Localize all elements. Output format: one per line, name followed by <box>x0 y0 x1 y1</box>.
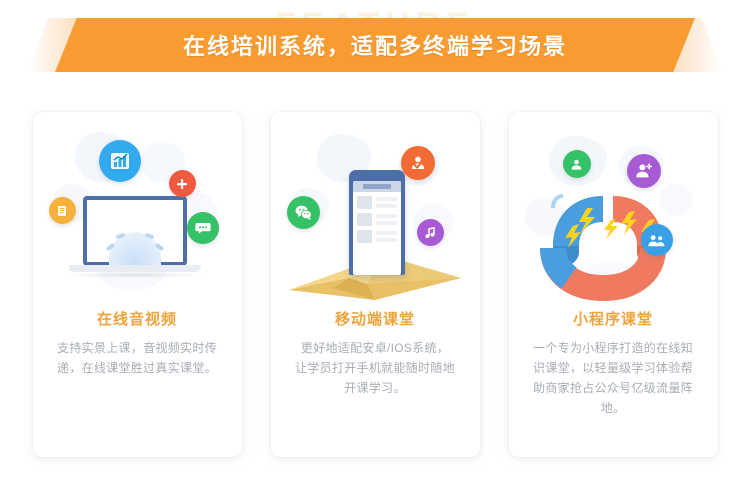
gear-graphic-icon <box>109 232 161 266</box>
page-banner: FEATURE 在线培训系统，适配多终端学习场景 <box>0 18 750 72</box>
laptop-illustration <box>45 126 230 306</box>
card-title: 在线音视频 <box>97 308 177 329</box>
user-check-icon <box>401 146 435 180</box>
laptop-base <box>69 265 201 272</box>
card-description: 一个专为小程序打造的在线知识课堂，以轻量级学习体验帮助商家抢占公众号亿级流量阵地… <box>533 338 693 418</box>
banner-title: 在线培训系统，适配多终端学习场景 <box>0 18 750 72</box>
wechat-icon <box>287 196 320 229</box>
user-download-icon <box>563 150 591 178</box>
card-title: 移动端课堂 <box>335 308 415 329</box>
music-note-icon <box>417 219 444 246</box>
feature-card-miniprogram-class[interactable]: 小程序课堂 一个专为小程序打造的在线知识课堂，以轻量级学习体验帮助商家抢占公众号… <box>509 112 718 457</box>
feature-card-online-av[interactable]: 在线音视频 支持实景上课，音视频实时传递，在线课堂胜过真实课堂。 <box>33 112 242 457</box>
phone-paper-plane-illustration <box>283 126 468 306</box>
document-icon <box>49 197 76 224</box>
plus-icon <box>169 170 196 197</box>
smartphone-icon <box>349 170 405 275</box>
chat-bubble-icon <box>187 212 219 244</box>
feature-card-mobile-class[interactable]: 移动端课堂 更好地适配安卓/IOS系统，让学员打开手机就能随时随地开课学习。 <box>271 112 480 457</box>
user-add-icon <box>627 154 661 188</box>
card-description: 更好地适配安卓/IOS系统，让学员打开手机就能随时随地开课学习。 <box>295 338 455 398</box>
card-title: 小程序课堂 <box>573 308 653 329</box>
feature-card-list: 在线音视频 支持实景上课，音视频实时传递，在线课堂胜过真实课堂。 <box>0 112 750 457</box>
laptop-screen-icon <box>83 196 187 266</box>
bar-chart-icon <box>99 140 141 182</box>
magnet-illustration <box>521 126 706 306</box>
card-description: 支持实景上课，音视频实时传递，在线课堂胜过真实课堂。 <box>57 338 217 378</box>
users-group-icon <box>641 224 673 256</box>
laptop-shadow <box>65 272 205 278</box>
